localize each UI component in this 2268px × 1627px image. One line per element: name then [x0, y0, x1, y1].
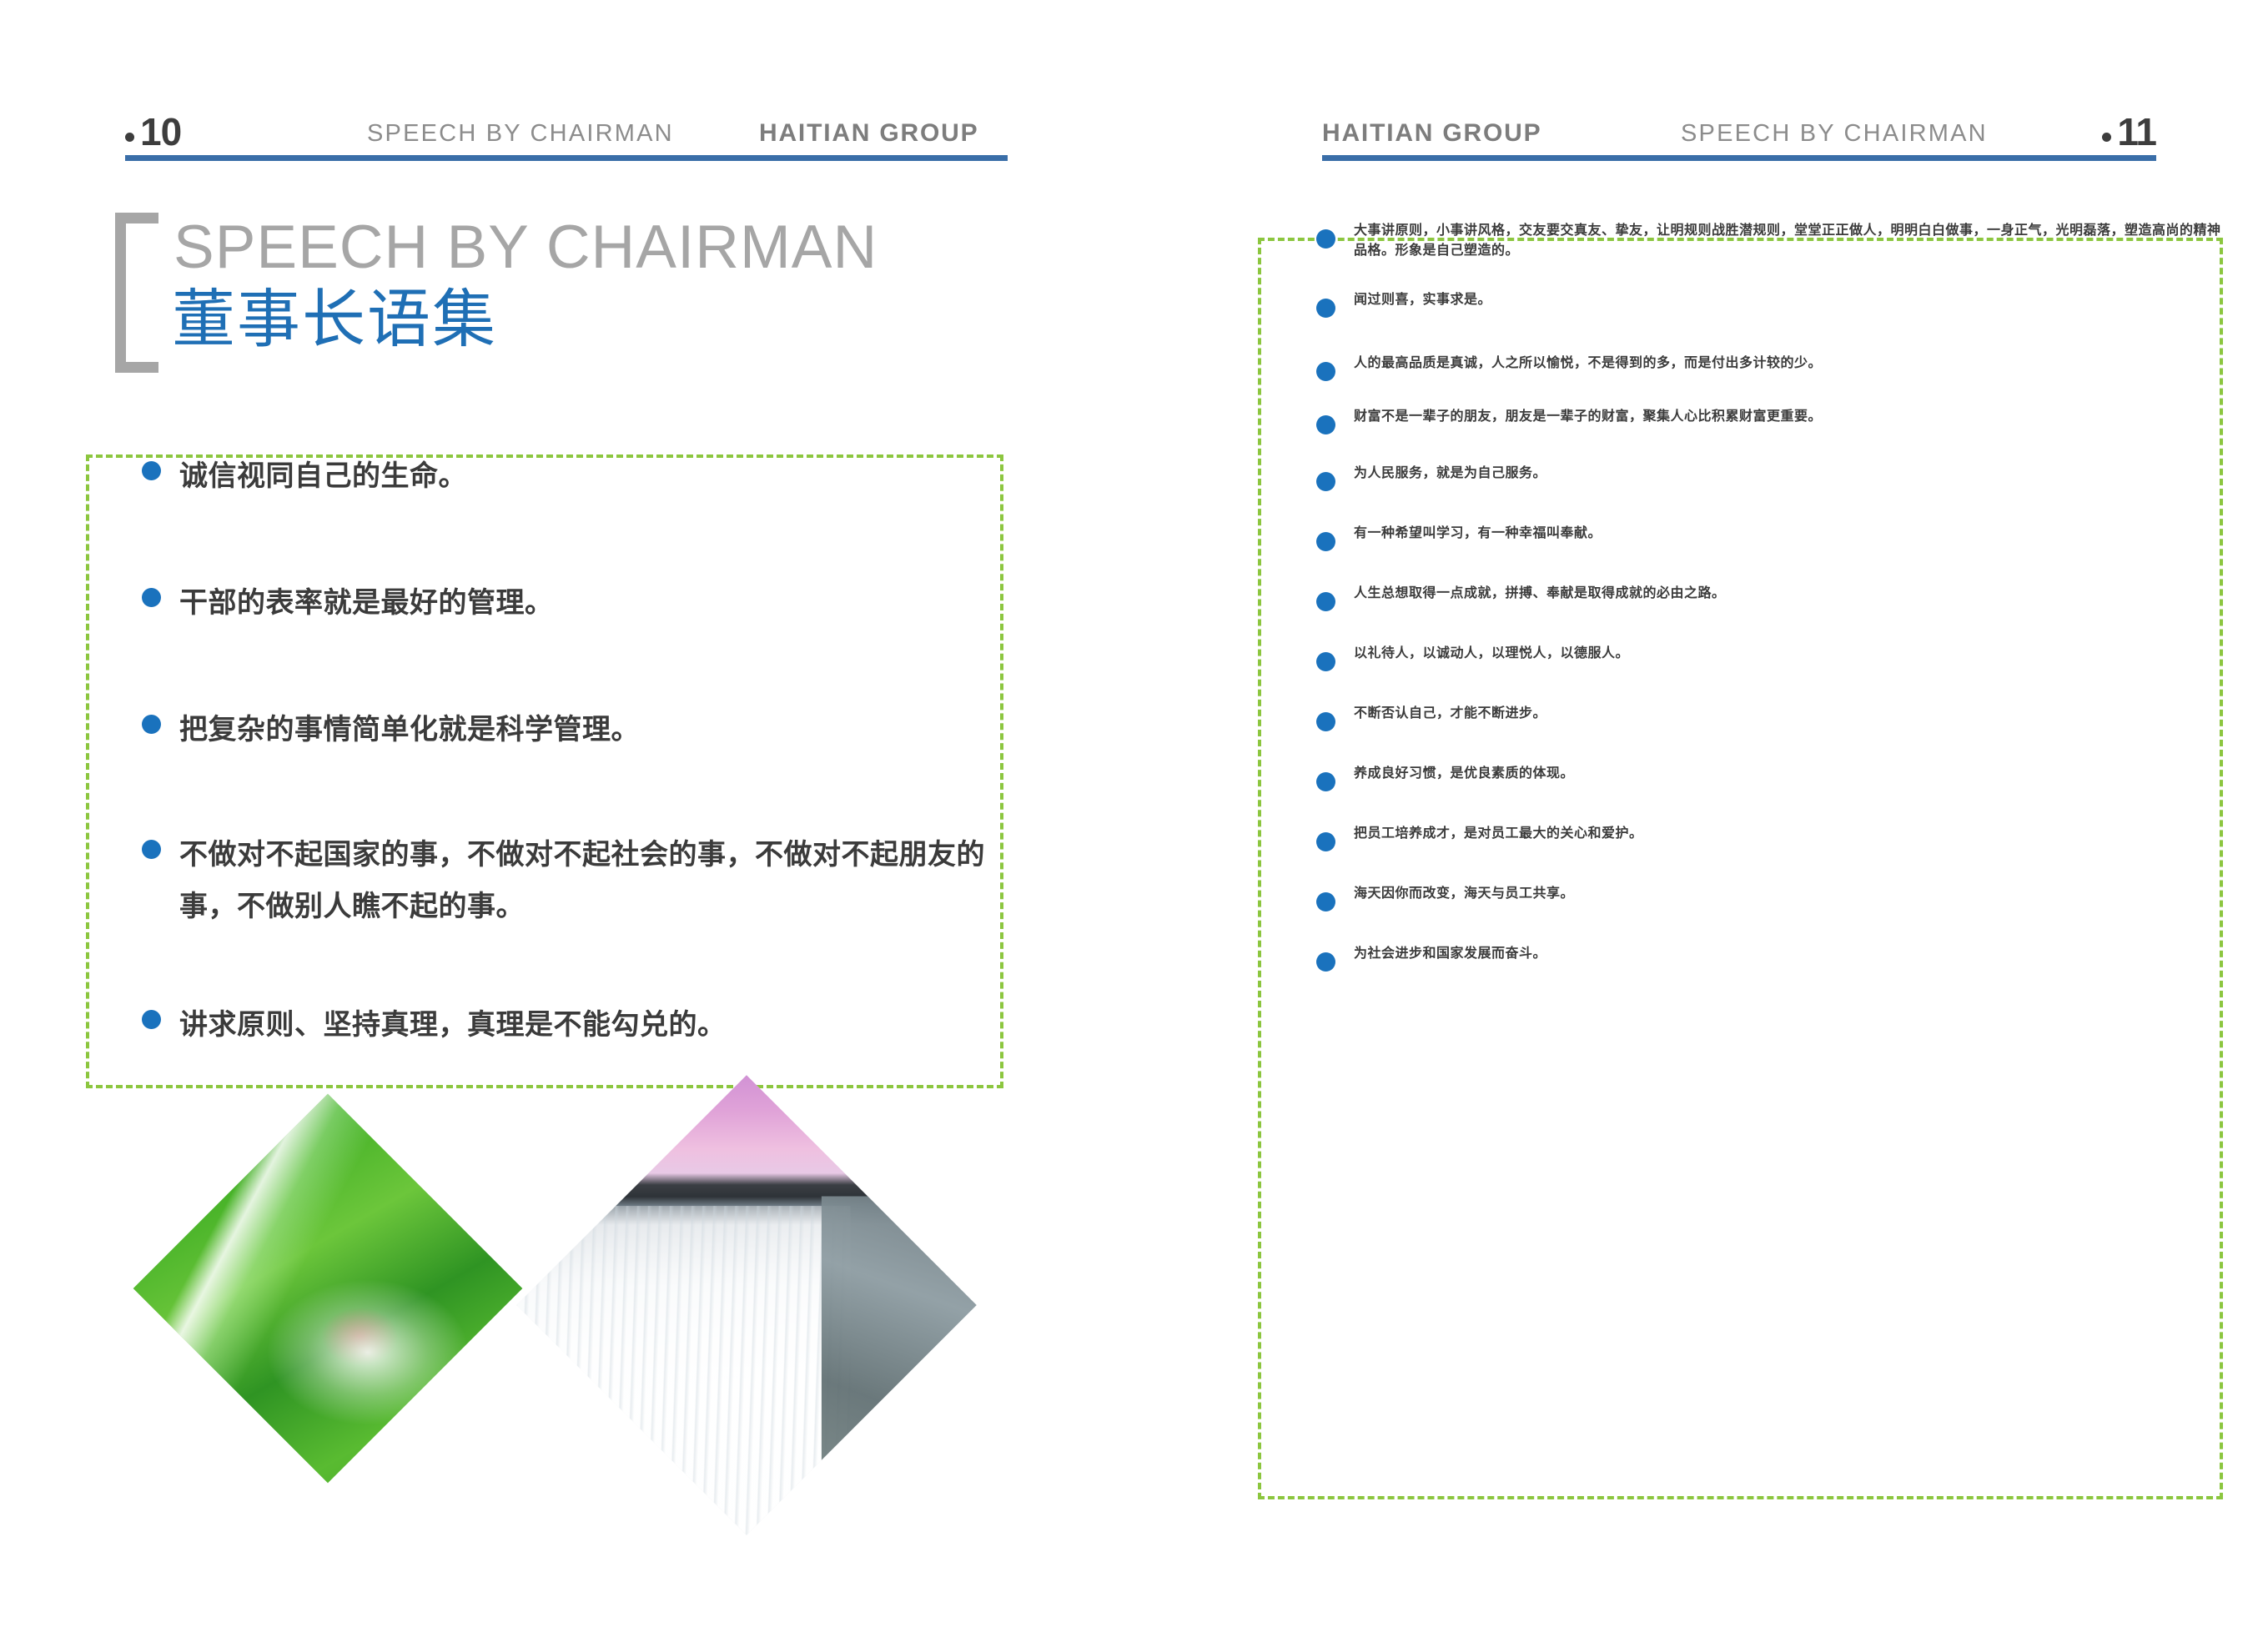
bracket-decoration-icon: [115, 213, 158, 373]
list-item-text: 不做对不起国家的事，不做对不起社会的事，不做对不起朋友的事，不做别人瞧不起的事。: [179, 829, 1009, 932]
bullet-dot-icon: [1316, 952, 1335, 972]
list-item-text: 为社会进步和国家发展而奋斗。: [1354, 942, 1546, 962]
bullet-dot-icon: [1316, 299, 1335, 318]
right-bullet-list: 大事讲原则，小事讲风格，交友要交真友、挚友，让明规则战胜潜规则，堂堂正正做人，明…: [1316, 218, 2225, 972]
list-item: 闻过则喜，实事求是。: [1316, 288, 2225, 318]
list-item-text: 把复杂的事情简单化就是科学管理。: [179, 704, 640, 756]
title-english: SPEECH BY CHAIRMAN: [173, 208, 878, 288]
list-item: 为人民服务，就是为自己服务。: [1316, 461, 2225, 491]
list-item: 干部的表率就是最好的管理。: [142, 577, 1009, 629]
list-item-text: 诚信视同自己的生命。: [179, 450, 467, 502]
bullet-dot-icon: [1316, 532, 1335, 551]
right-page: HAITIAN GROUP SPEECH BY CHAIRMAN 11 大事讲原…: [1134, 0, 2268, 1627]
left-header-row: 10 SPEECH BY CHAIRMAN HAITIAN GROUP: [125, 110, 1008, 153]
bullet-dot-icon: [142, 588, 161, 607]
list-item-text: 大事讲原则，小事讲风格，交友要交真友、挚友，让明规则战胜潜规则，堂堂正正做人，明…: [1354, 218, 2225, 259]
right-header-section-label: SPEECH BY CHAIRMAN: [1681, 115, 1988, 152]
right-page-number: 11: [2102, 110, 2156, 153]
left-page-title-block: SPEECH BY CHAIRMAN 董事长语集: [115, 213, 949, 379]
list-item-text: 为人民服务，就是为自己服务。: [1354, 461, 1546, 481]
left-page-header: 10 SPEECH BY CHAIRMAN HAITIAN GROUP: [125, 110, 1008, 168]
list-item: 以礼待人，以诚动人，以理悦人，以德服人。: [1316, 641, 2225, 671]
right-header-row: HAITIAN GROUP SPEECH BY CHAIRMAN 11: [1322, 110, 2156, 153]
bullet-dot-icon: [1316, 772, 1335, 791]
left-page-number-value: 10: [140, 110, 181, 153]
waterfall-sunset-photo: [516, 1075, 977, 1535]
list-item-text: 把员工培养成才，是对员工最大的关心和爱护。: [1354, 821, 1643, 841]
list-item: 有一种希望叫学习，有一种幸福叫奉献。: [1316, 521, 2225, 551]
list-item-text: 以礼待人，以诚动人，以理悦人，以德服人。: [1354, 641, 1629, 661]
list-item-text: 海天因你而改变，海天与员工共享。: [1354, 881, 1574, 901]
right-header-rule: [1322, 155, 2156, 161]
title-chinese: 董事长语集: [172, 278, 497, 361]
list-item: 大事讲原则，小事讲风格，交友要交真友、挚友，让明规则战胜潜规则，堂堂正正做人，明…: [1316, 218, 2225, 259]
list-item-text: 有一种希望叫学习，有一种幸福叫奉献。: [1354, 521, 1602, 541]
bullet-dot-icon: [1316, 229, 1335, 249]
left-header-rule: [125, 155, 1008, 161]
bullet-dot-icon: [1316, 592, 1335, 611]
waterfall-sunset-photo-image: [516, 1075, 977, 1535]
list-item-text: 人的最高品质是真诚，人之所以愉悦，不是得到的多，而是付出多计较的少。: [1354, 351, 1822, 371]
page-number-dot-icon: [125, 133, 134, 142]
list-item: 把员工培养成才，是对员工最大的关心和爱护。: [1316, 821, 2225, 851]
leaf-water-drop-photo: [133, 1094, 523, 1484]
right-header-brand-label: HAITIAN GROUP: [1322, 115, 1541, 152]
list-item: 财富不是一辈子的朋友，朋友是一辈子的财富，聚集人心比积累财富更重要。: [1316, 404, 2225, 434]
bullet-dot-icon: [1316, 652, 1335, 671]
right-page-header: HAITIAN GROUP SPEECH BY CHAIRMAN 11: [1322, 110, 2156, 168]
book-spread: 10 SPEECH BY CHAIRMAN HAITIAN GROUP SPEE…: [0, 0, 2268, 1627]
list-item-text: 不断否认自己，才能不断进步。: [1354, 701, 1546, 721]
bullet-dot-icon: [142, 840, 161, 859]
left-page: 10 SPEECH BY CHAIRMAN HAITIAN GROUP SPEE…: [0, 0, 1134, 1627]
bullet-dot-icon: [1316, 472, 1335, 491]
list-item: 不做对不起国家的事，不做对不起社会的事，不做对不起朋友的事，不做别人瞧不起的事。: [142, 829, 1009, 932]
bullet-dot-icon: [1316, 415, 1335, 434]
bullet-dot-icon: [1316, 832, 1335, 851]
list-item: 人生总想取得一点成就，拼搏、奉献是取得成就的必由之路。: [1316, 581, 2225, 611]
left-page-number: 10: [125, 110, 181, 153]
list-item: 为社会进步和国家发展而奋斗。: [1316, 942, 2225, 972]
bullet-dot-icon: [1316, 892, 1335, 911]
list-item: 养成良好习惯，是优良素质的体现。: [1316, 761, 2225, 791]
list-item: 不断否认自己，才能不断进步。: [1316, 701, 2225, 731]
list-item-text: 财富不是一辈子的朋友，朋友是一辈子的财富，聚集人心比积累财富更重要。: [1354, 404, 1822, 424]
left-bullet-list: 诚信视同自己的生命。 干部的表率就是最好的管理。 把复杂的事情简单化就是科学管理…: [142, 450, 1009, 1051]
bullet-dot-icon: [1316, 362, 1335, 381]
bullet-dot-icon: [142, 715, 161, 734]
list-item-text: 养成良好习惯，是优良素质的体现。: [1354, 761, 1574, 781]
list-item-text: 干部的表率就是最好的管理。: [179, 577, 554, 629]
leaf-water-drop-photo-image: [133, 1094, 523, 1484]
right-page-number-value: 11: [2117, 110, 2156, 153]
list-item: 诚信视同自己的生命。: [142, 450, 1009, 502]
list-item: 人的最高品质是真诚，人之所以愉悦，不是得到的多，而是付出多计较的少。: [1316, 351, 2225, 381]
bullet-dot-icon: [142, 1010, 161, 1029]
bullet-dot-icon: [142, 461, 161, 480]
left-header-brand-label: HAITIAN GROUP: [759, 115, 978, 152]
left-header-section-label: SPEECH BY CHAIRMAN: [367, 115, 674, 152]
list-item-text: 讲求原则、坚持真理，真理是不能勾兑的。: [179, 999, 727, 1051]
list-item: 把复杂的事情简单化就是科学管理。: [142, 704, 1009, 756]
list-item-text: 闻过则喜，实事求是。: [1354, 288, 1491, 308]
list-item: 海天因你而改变，海天与员工共享。: [1316, 881, 2225, 911]
bullet-dot-icon: [1316, 712, 1335, 731]
list-item-text: 人生总想取得一点成就，拼搏、奉献是取得成就的必由之路。: [1354, 581, 1726, 601]
page-number-dot-icon: [2102, 133, 2111, 142]
list-item: 讲求原则、坚持真理，真理是不能勾兑的。: [142, 999, 1009, 1051]
